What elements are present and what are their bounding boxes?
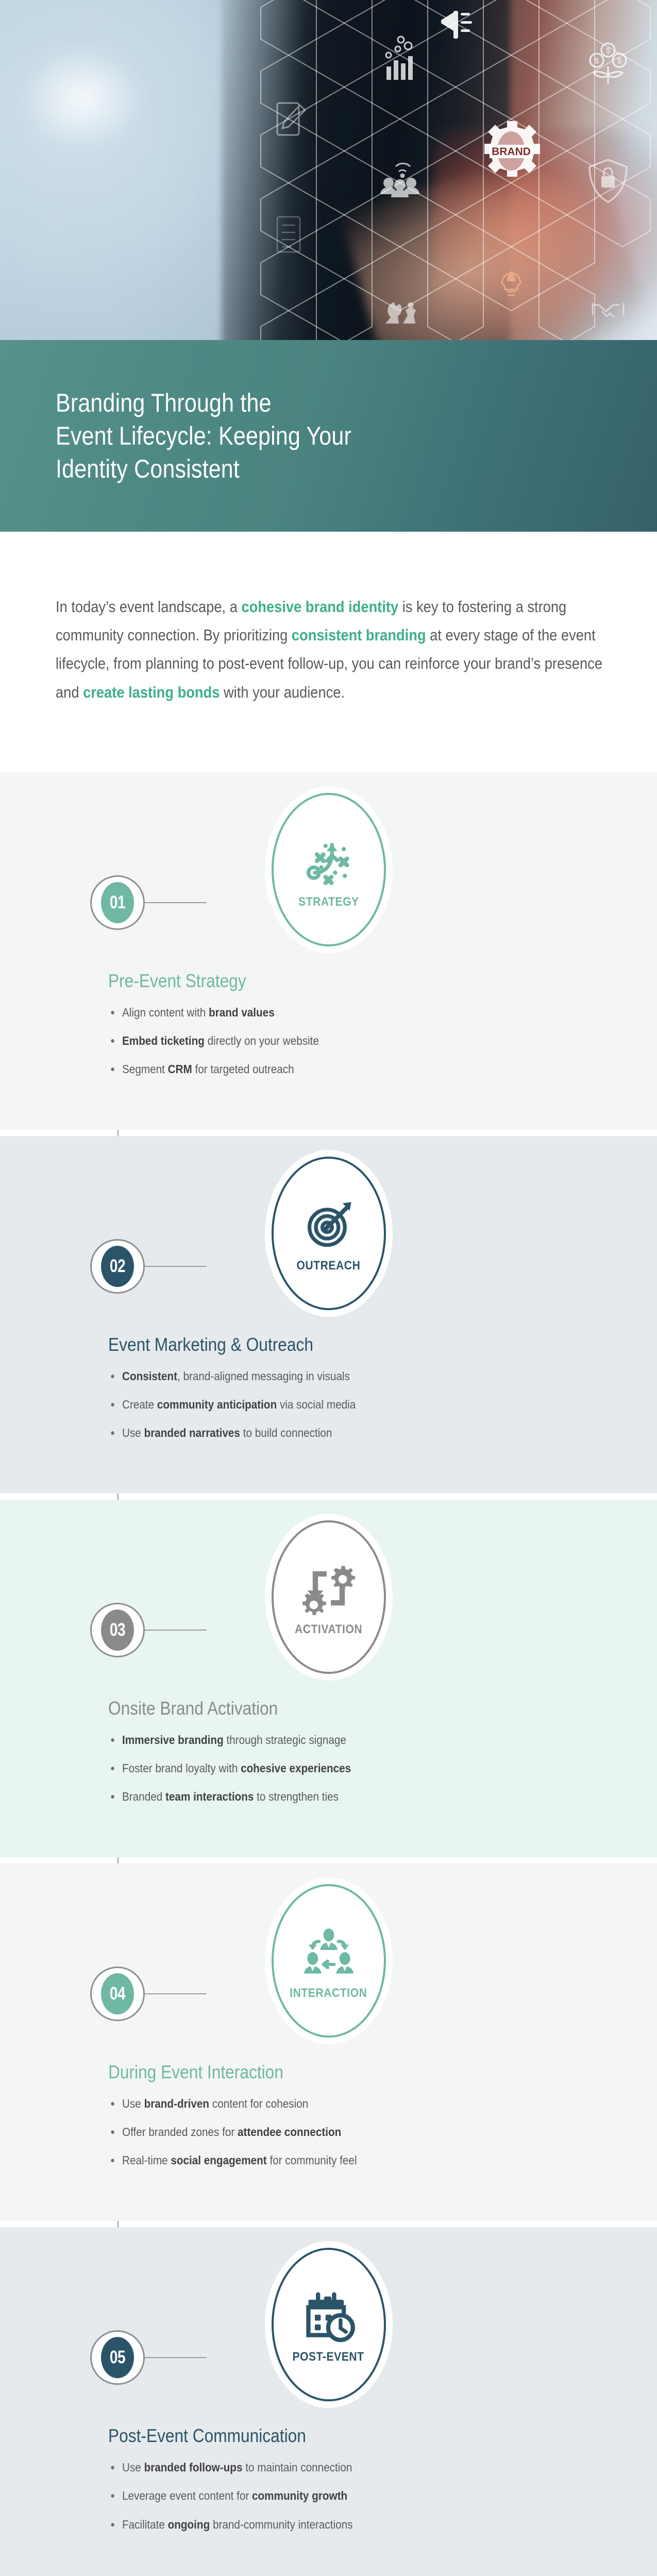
bullet-text: for community feel	[267, 2154, 357, 2167]
step-bubble-01[interactable]: STRATEGY	[272, 793, 386, 946]
badge-connector-line	[145, 1630, 207, 1631]
bullet-text: Align content with	[122, 1006, 209, 1019]
step-bubble-03[interactable]: ACTIVATION	[272, 1520, 386, 1674]
step-section-02: 02 OUTREACH Event Marketing & Outreach C…	[0, 1136, 657, 1494]
bullet-highlight: branded follow-ups	[144, 2461, 243, 2474]
bubble-caption: ACTIVATION	[295, 1622, 362, 1637]
bullet-highlight: Embed ticketing	[122, 1034, 205, 1047]
step-bullet: Use branded follow-ups to maintain conne…	[108, 2459, 551, 2476]
step-badge-03[interactable]: 03	[90, 1603, 145, 1657]
bullet-text: Use	[122, 1426, 144, 1439]
chess-icon	[385, 302, 416, 324]
step-bullet: Real-time social engagement for communit…	[108, 2152, 551, 2169]
bullet-highlight: attendee connection	[238, 2125, 341, 2139]
step-badge-02[interactable]: 02	[90, 1239, 145, 1294]
svg-text:$: $	[617, 57, 622, 65]
svg-text:$: $	[595, 57, 599, 65]
bullet-text: Branded	[122, 1790, 165, 1803]
bullet-highlight: community growth	[252, 2489, 347, 2502]
step-bullet: Leverage event content for community gro…	[108, 2487, 551, 2504]
bullet-text: Foster brand loyalty with	[122, 1761, 241, 1775]
badge-connector-line	[145, 1993, 207, 1994]
badge-connector-line	[145, 1266, 207, 1267]
step-number: 05	[101, 2337, 134, 2378]
step-body: Event Marketing & Outreach Consistent, b…	[0, 1310, 657, 1442]
step-bullet: Segment CRM for targeted outreach	[108, 1061, 551, 1078]
target-arrow-icon	[300, 1198, 358, 1251]
document-pen-icon	[277, 103, 305, 135]
intro-highlight: create lasting bonds	[83, 683, 220, 701]
step-bullet: Use brand-driven content for cohesion	[108, 2095, 551, 2112]
gear-brand-icon: BRAND	[484, 121, 540, 177]
bullet-text: Use	[122, 2097, 144, 2110]
bullet-highlight: social engagement	[171, 2154, 266, 2167]
step-heading: Post-Event Communication	[108, 2425, 541, 2447]
rocket-bulb-icon	[502, 271, 520, 295]
bullet-text: Use	[122, 2461, 144, 2474]
step-body: During Event Interaction Use brand-drive…	[0, 2038, 657, 2170]
step-bullet: Consistent, brand-aligned messaging in v…	[108, 1368, 551, 1385]
bullet-text: Leverage event content for	[122, 2489, 252, 2502]
hexagon-network-overlay: $ $ $ BRAND	[0, 0, 657, 340]
intro-paragraph: In today’s event landscape, a cohesive b…	[56, 592, 613, 706]
bullet-text: Segment	[122, 1062, 168, 1076]
bubble-caption: POST-EVENT	[293, 2350, 364, 2364]
step-body: Pre-Event Strategy Align content with br…	[0, 946, 657, 1078]
step-bubble-05[interactable]: POST-EVENT	[272, 2248, 386, 2401]
step-heading: Onsite Brand Activation	[108, 1698, 541, 1719]
step-section-01: 01	[0, 772, 657, 1130]
bullet-text: Offer branded zones for	[122, 2125, 238, 2139]
bullet-highlight: community anticipation	[157, 1398, 277, 1411]
step-badge-01[interactable]: 01	[90, 875, 145, 930]
step-body: Onsite Brand Activation Immersive brandi…	[0, 1674, 657, 1806]
step-heading: During Event Interaction	[108, 2061, 541, 2083]
handshake-icon	[593, 303, 624, 317]
step-bullet: Create community anticipation via social…	[108, 1396, 551, 1413]
step-bullet: Offer branded zones for attendee connect…	[108, 2124, 551, 2141]
bullet-text: via social media	[277, 1398, 356, 1411]
intro-text: with your audience.	[220, 683, 345, 701]
step-bullet-list: Use branded follow-ups to maintain conne…	[108, 2459, 600, 2533]
bullet-text: Facilitate	[122, 2518, 168, 2531]
audience-target-icon	[380, 163, 419, 197]
bubble-caption: STRATEGY	[298, 895, 359, 909]
bullet-text: content for cohesion	[209, 2097, 308, 2110]
step-number: 04	[101, 1973, 134, 2014]
step-badge-05[interactable]: 05	[90, 2330, 145, 2385]
people-network-icon	[300, 1925, 358, 1979]
step-bullet: Branded team interactions to strengthen …	[108, 1788, 551, 1805]
bullet-highlight: brand-driven	[144, 2097, 210, 2110]
calendar-clock-icon	[300, 2289, 358, 2343]
badge-connector-line	[145, 902, 207, 903]
step-number: 02	[101, 1246, 134, 1287]
bullet-text: , brand-aligned messaging in visuals	[177, 1369, 350, 1383]
step-bullet: Facilitate ongoing brand-community inter…	[108, 2516, 551, 2533]
step-bullet: Immersive branding through strategic sig…	[108, 1732, 551, 1749]
checklist-icon	[277, 217, 300, 252]
bullet-text: for targeted outreach	[192, 1062, 294, 1076]
step-bubble-04[interactable]: INTERACTION	[272, 1884, 386, 2038]
bullet-text: to maintain connection	[242, 2461, 352, 2474]
bullet-text: brand-community interactions	[210, 2518, 352, 2531]
step-body: Post-Event Communication Use branded fol…	[0, 2401, 657, 2533]
step-bullet-list: Align content with brand valuesEmbed tic…	[108, 1004, 600, 1078]
bullet-highlight: branded narratives	[144, 1426, 240, 1439]
step-bullet-list: Consistent, brand-aligned messaging in v…	[108, 1368, 600, 1442]
bullet-text: to strengthen ties	[254, 1790, 339, 1803]
bullet-text: Create	[122, 1398, 157, 1411]
intro-highlight: consistent branding	[292, 626, 426, 644]
bullet-highlight: cohesive experiences	[241, 1761, 351, 1775]
step-bubble-02[interactable]: OUTREACH	[272, 1157, 386, 1310]
bullet-highlight: Immersive branding	[122, 1733, 224, 1747]
step-badge-04[interactable]: 04	[90, 1967, 145, 2021]
bullet-highlight: team interactions	[165, 1790, 254, 1803]
page-title: Branding Through the Event Lifecycle: Ke…	[56, 386, 351, 485]
bullet-text: directly on your website	[205, 1034, 319, 1047]
infographic-page: $ $ $ BRAND	[0, 0, 657, 2576]
step-bullet-list: Immersive branding through strategic sig…	[108, 1732, 600, 1806]
megaphone-icon	[441, 11, 472, 39]
intro-text: In today’s event landscape, a	[56, 598, 241, 616]
bullet-highlight: brand values	[209, 1006, 275, 1019]
bullet-text: Real-time	[122, 2154, 171, 2167]
bullet-highlight: ongoing	[168, 2518, 210, 2531]
timeline-steps: 01	[0, 772, 657, 2576]
bar-chart-icon	[386, 37, 413, 80]
step-section-04: 04	[0, 1863, 657, 2221]
bullet-highlight: Consistent	[122, 1369, 177, 1383]
intro-highlight: cohesive brand identity	[241, 598, 398, 616]
bullet-text: through strategic signage	[224, 1733, 346, 1747]
step-bullet: Foster brand loyalty with cohesive exper…	[108, 1760, 551, 1777]
bullet-highlight: CRM	[168, 1062, 192, 1076]
step-number: 01	[101, 882, 134, 923]
hero-photo: $ $ $ BRAND	[0, 0, 657, 340]
step-bullet: Use branded narratives to build connecti…	[108, 1425, 551, 1442]
badge-connector-line	[145, 2357, 207, 2358]
bullet-text: to build connection	[240, 1426, 332, 1439]
step-heading: Pre-Event Strategy	[108, 970, 541, 992]
intro-section: In today’s event landscape, a cohesive b…	[0, 532, 657, 772]
bubble-caption: INTERACTION	[290, 1986, 367, 2001]
step-section-05: 05 PO	[0, 2227, 657, 2576]
step-bullet-list: Use brand-driven content for cohesionOff…	[108, 2095, 600, 2170]
strategy-path-icon	[300, 834, 358, 888]
bubble-caption: OUTREACH	[297, 1259, 361, 1273]
svg-text:BRAND: BRAND	[492, 146, 531, 158]
step-heading: Event Marketing & Outreach	[108, 1334, 541, 1355]
step-section-03: 03 ACTIVA	[0, 1500, 657, 1857]
step-number: 03	[101, 1609, 134, 1651]
title-band: Branding Through the Event Lifecycle: Ke…	[0, 340, 657, 532]
gears-cycle-icon	[300, 1562, 358, 1615]
step-bullet: Embed ticketing directly on your website	[108, 1032, 551, 1049]
step-bullet: Align content with brand values	[108, 1004, 551, 1021]
svg-text:$: $	[606, 46, 611, 55]
